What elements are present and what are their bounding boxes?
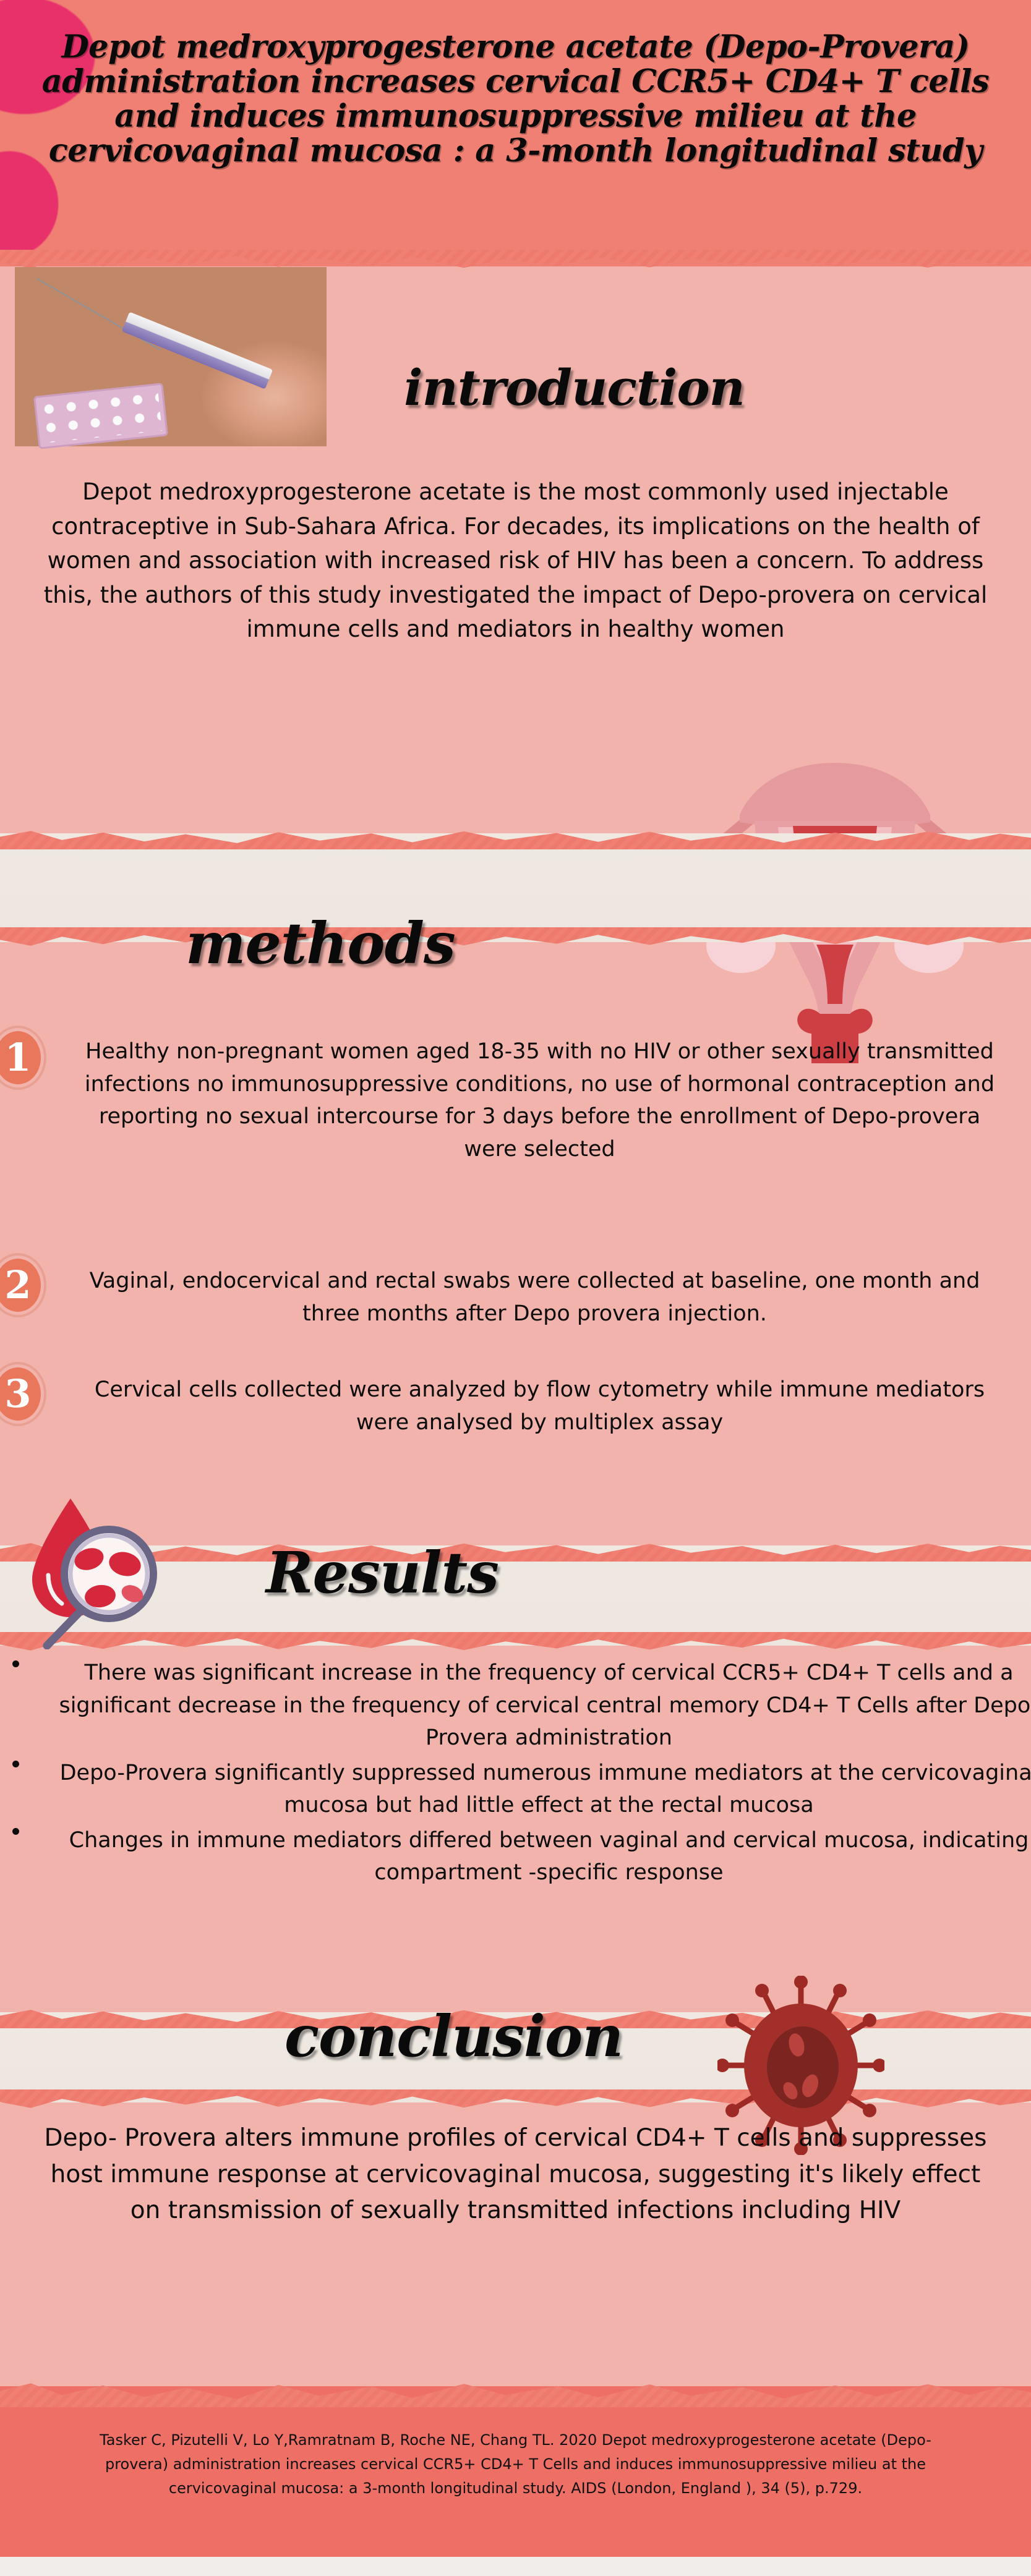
section-heading-introduction: introduction [0, 359, 1031, 417]
results-bullet-list: There was significant increase in the fr… [0, 1657, 1031, 1892]
list-item: Changes in immune mediators differed bet… [33, 1824, 1031, 1889]
results-bullet-text: There was significant increase in the fr… [59, 1660, 1031, 1750]
bullet-dot-icon [12, 1660, 19, 1667]
bullet-dot-icon [12, 1761, 19, 1767]
results-bullet-text: Changes in immune mediators differed bet… [69, 1828, 1029, 1885]
section-heading-conclusion: conclusion [284, 2003, 623, 2070]
introduction-body: Depot medroxyprogesterone acetate is the… [0, 475, 1031, 647]
methods-torn-band [0, 833, 1031, 942]
section-heading-methods: methods [186, 910, 455, 977]
list-item: There was significant increase in the fr… [33, 1657, 1031, 1754]
citation-text: Tasker C, Pizutelli V, Lo Y,Ramratnam B,… [0, 2428, 1031, 2501]
blood-drop-microscope-icon [10, 1495, 183, 1649]
footer-strip [0, 2557, 1031, 2576]
infographic-poster: Depot medroxyprogesterone acetate (Depo-… [0, 0, 1031, 2576]
section-heading-results: Results [266, 1539, 498, 1606]
list-item: Depo-Provera significantly suppressed nu… [33, 1757, 1031, 1822]
methods-step-text-2: Vaginal, endocervical and rectal swabs w… [0, 1265, 1031, 1330]
results-bullet-text: Depo-Provera significantly suppressed nu… [60, 1761, 1031, 1818]
page-title: Depot medroxyprogesterone acetate (Depo-… [0, 30, 1031, 168]
methods-step-text-3: Cervical cells collected were analyzed b… [0, 1374, 1031, 1439]
conclusion-body: Depo- Provera alters immune profiles of … [0, 2120, 1031, 2229]
methods-step-text-1: Healthy non-pregnant women aged 18-35 wi… [0, 1035, 1031, 1165]
bullet-dot-icon [12, 1828, 19, 1835]
contraceptive-injection-photo [15, 267, 327, 446]
